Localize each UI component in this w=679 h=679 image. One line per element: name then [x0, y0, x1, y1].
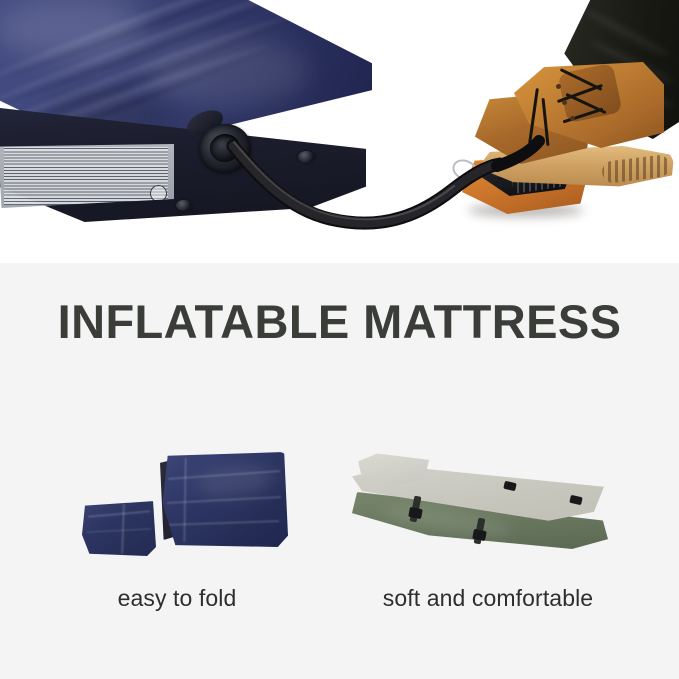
product-marketing-image: INFLATABLE MATTRESS easy to fold soft an… — [0, 0, 679, 679]
boot-eyelet — [570, 116, 575, 121]
fabric-crease — [88, 510, 150, 517]
mattress-grommet — [176, 200, 192, 211]
boot-eyelet — [562, 100, 567, 105]
sleeping-pad — [352, 452, 616, 560]
feature-caption-easy-to-fold: easy to fold — [35, 584, 319, 612]
feature-caption-soft-and-comfortable: soft and comfortable — [338, 584, 638, 612]
fabric-crease — [169, 520, 279, 525]
spec-label-certification-mark-icon — [150, 185, 167, 202]
spec-label-fineprint — [4, 147, 168, 205]
mattress-grommet — [298, 151, 315, 163]
folded-mattress-large — [160, 452, 288, 547]
hero-photo-panel — [0, 0, 679, 263]
spec-label — [0, 144, 174, 208]
folded-mattress-small — [82, 500, 156, 556]
fabric-crease — [87, 528, 151, 533]
page-title: INFLATABLE MATTRESS — [0, 296, 679, 348]
boot-eyelet — [556, 84, 561, 89]
work-boot — [470, 62, 679, 222]
